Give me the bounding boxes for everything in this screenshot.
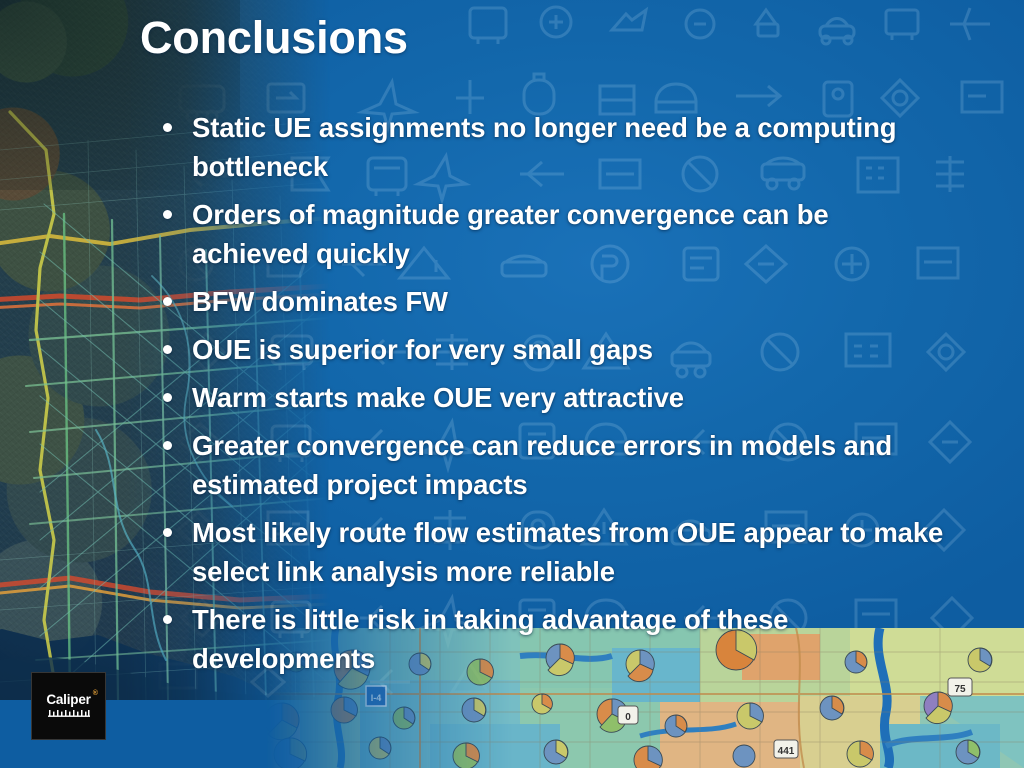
bullet-dot-icon <box>163 393 172 402</box>
list-item-text: Greater convergence can reduce errors in… <box>192 430 892 500</box>
list-item-text: Most likely route flow estimates from OU… <box>192 517 943 587</box>
list-item-text: There is little risk in taking advantage… <box>192 604 788 674</box>
bullet-dot-icon <box>163 297 172 306</box>
presentation-slide: 177 I-4 0 441 75 Conclusions Static UE a… <box>0 0 1024 768</box>
slide-content: Conclusions Static UE assignments no lon… <box>0 0 1024 768</box>
bullet-dot-icon <box>163 123 172 132</box>
caliper-wordmark: Caliper ® <box>46 693 90 707</box>
bullet-dot-icon <box>163 210 172 219</box>
list-item-text: Static UE assignments no longer need be … <box>192 112 896 182</box>
list-item-text: OUE is superior for very small gaps <box>192 334 653 365</box>
list-item: Most likely route flow estimates from OU… <box>155 513 945 591</box>
caliper-logo: Caliper ® <box>31 672 106 740</box>
bullet-dot-icon <box>163 345 172 354</box>
bullet-list: Static UE assignments no longer need be … <box>155 108 945 687</box>
list-item-text: Warm starts make OUE very attractive <box>192 382 684 413</box>
list-item: There is little risk in taking advantage… <box>155 600 945 678</box>
page-title: Conclusions <box>140 14 408 61</box>
list-item: Orders of magnitude greater convergence … <box>155 195 945 273</box>
list-item: OUE is superior for very small gaps <box>155 330 945 369</box>
list-item: BFW dominates FW <box>155 282 945 321</box>
list-item-text: BFW dominates FW <box>192 286 448 317</box>
bullet-dot-icon <box>163 615 172 624</box>
list-item-text: Orders of magnitude greater convergence … <box>192 199 829 269</box>
bullet-dot-icon <box>163 528 172 537</box>
caliper-ruler-icon <box>48 710 90 719</box>
list-item: Static UE assignments no longer need be … <box>155 108 945 186</box>
list-item: Warm starts make OUE very attractive <box>155 378 945 417</box>
list-item: Greater convergence can reduce errors in… <box>155 426 945 504</box>
registered-trademark-icon: ® <box>93 690 98 697</box>
caliper-wordmark-text: Caliper <box>46 692 90 707</box>
bullet-dot-icon <box>163 441 172 450</box>
